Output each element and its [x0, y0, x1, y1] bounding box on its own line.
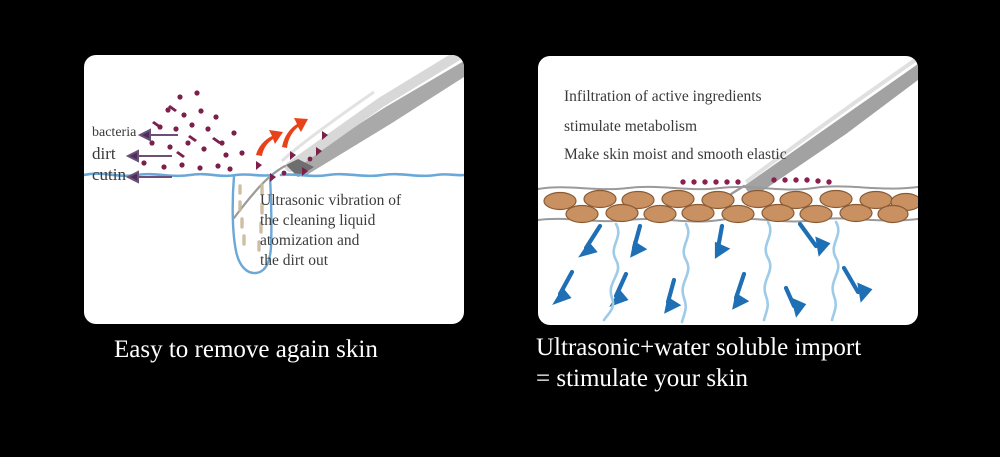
panel-cleaning-illustration: bacteria dirt cutin Ultrasonic vibration…	[84, 55, 464, 324]
label-dirt: dirt	[92, 144, 116, 164]
label-bacteria: bacteria	[92, 125, 136, 142]
annotation-ultrasonic-vibration: Ultrasonic vibration of the cleaning liq…	[260, 191, 401, 272]
label-cutin: cutin	[92, 165, 126, 185]
right-text-line-3: Make skin moist and smooth elastic	[564, 146, 787, 164]
ultrasonic-probe-icon	[722, 58, 918, 200]
caption-left-panel: Easy to remove again skin	[114, 335, 378, 366]
skin-cells	[544, 191, 918, 223]
dirt-particles	[141, 90, 244, 171]
caption-right-panel: Ultrasonic+water soluble import = stimul…	[536, 333, 861, 394]
left-panel-graphic	[84, 55, 464, 324]
emission-arrows	[256, 118, 308, 156]
right-text-line-2: stimulate metabolism	[564, 118, 697, 136]
panel-infiltration-illustration: Infiltration of active ingredients stimu…	[538, 56, 918, 325]
skin-top-boundary	[538, 186, 918, 189]
right-text-line-1: Infiltration of active ingredients	[564, 88, 762, 106]
slide-background: bacteria dirt cutin Ultrasonic vibration…	[0, 0, 1000, 457]
penetration-arrows	[557, 224, 869, 306]
